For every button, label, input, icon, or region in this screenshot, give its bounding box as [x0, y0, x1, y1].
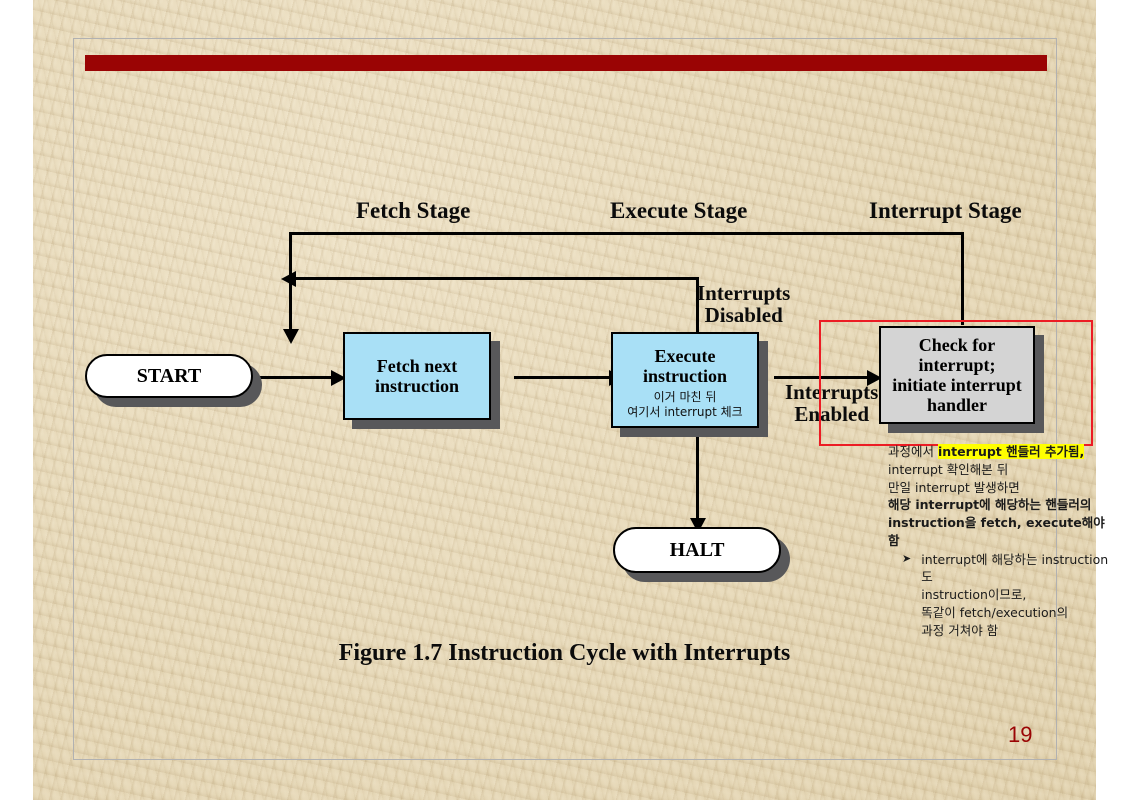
edge-label-interrupts-disabled-line2: Disabled	[697, 304, 790, 326]
title-accent-bar	[85, 55, 1047, 71]
inner-loop-arrowhead	[281, 271, 296, 287]
annotation-line-3: 만일 interrupt 발생하면	[888, 479, 1118, 497]
process-box-execute-note-line2: 여기서 interrupt 체크	[627, 405, 742, 420]
annotation-bullet-text: interrupt에 해당하는 instruction도 instruction…	[921, 551, 1118, 640]
outer-loop-arrowhead	[283, 329, 299, 344]
process-box-check-title-line3: initiate interrupt	[892, 375, 1021, 395]
execute-to-halt-line	[696, 432, 699, 522]
annotation-line-1: 과정에서 interrupt 핸들러 추가됨,	[888, 443, 1118, 461]
annotation-bullet-line-4: 과정 거쳐야 함	[921, 622, 1118, 640]
process-box-execute-instruction[interactable]: Execute instruction 이거 마친 뒤 여기서 interrup…	[611, 332, 759, 428]
figure-caption: Figure 1.7 Instruction Cycle with Interr…	[33, 640, 1096, 667]
annotation-bullet-item: ➤ interrupt에 해당하는 instruction도 instructi…	[888, 551, 1118, 640]
start-to-fetch-line	[251, 376, 335, 379]
annotation-line-1-plain: 과정에서	[888, 444, 938, 459]
annotation-line-1-highlight: interrupt 핸들러 추가됨,	[938, 444, 1084, 459]
korean-annotation-block: 과정에서 interrupt 핸들러 추가됨, interrupt 확인해본 뒤…	[888, 443, 1118, 639]
process-box-fetch-title-line1: Fetch next	[375, 356, 459, 376]
inner-loop-top-line	[289, 277, 699, 280]
annotation-line-2: interrupt 확인해본 뒤	[888, 461, 1118, 479]
process-box-fetch-title: Fetch next instruction	[375, 356, 459, 396]
stage-label-interrupt: Interrupt Stage	[869, 198, 1022, 224]
stage-label-execute: Execute Stage	[610, 198, 747, 224]
process-box-check-title-line4: handler	[892, 395, 1021, 415]
edge-label-interrupts-disabled: Interrupts Disabled	[697, 282, 790, 327]
annotation-line-4: 해당 interrupt에 해당하는 핸들러의	[888, 496, 1118, 514]
edge-label-interrupts-disabled-line1: Interrupts	[697, 282, 790, 304]
stage-label-fetch: Fetch Stage	[356, 198, 470, 224]
process-box-check-for-interrupt[interactable]: Check for interrupt; initiate interrupt …	[879, 326, 1035, 424]
annotation-bullet-line-2: instruction이므로,	[921, 586, 1118, 604]
process-box-check-title-line1: Check for	[892, 335, 1021, 355]
slide-surface: Fetch Stage Execute Stage Interrupt Stag…	[33, 0, 1096, 800]
process-box-fetch-next-instruction[interactable]: Fetch next instruction	[343, 332, 491, 420]
process-box-execute-note-line1: 이거 마친 뒤	[627, 390, 742, 405]
process-box-execute-note: 이거 마친 뒤 여기서 interrupt 체크	[627, 390, 742, 420]
process-box-check-title: Check for interrupt; initiate interrupt …	[892, 335, 1021, 416]
bullet-arrow-icon: ➤	[902, 551, 911, 640]
page-number: 19	[1008, 722, 1032, 748]
annotation-bullet-line-1: interrupt에 해당하는 instruction도	[921, 551, 1118, 587]
terminator-start[interactable]: START	[85, 354, 253, 398]
annotation-line-5: instruction을 fetch, execute해야 함	[888, 514, 1118, 550]
outer-loop-top-line	[289, 232, 964, 235]
terminator-halt[interactable]: HALT	[613, 527, 781, 573]
annotation-bullet-line-3: 똑같이 fetch/execution의	[921, 604, 1118, 622]
process-box-execute-title-line2: instruction	[643, 366, 727, 386]
outer-loop-right-line	[961, 232, 964, 325]
process-box-execute-title-line1: Execute	[643, 346, 727, 366]
fetch-to-execute-line	[514, 376, 614, 379]
process-box-execute-title: Execute instruction	[643, 346, 727, 386]
process-box-check-title-line2: interrupt;	[892, 355, 1021, 375]
process-box-fetch-title-line2: instruction	[375, 376, 459, 396]
